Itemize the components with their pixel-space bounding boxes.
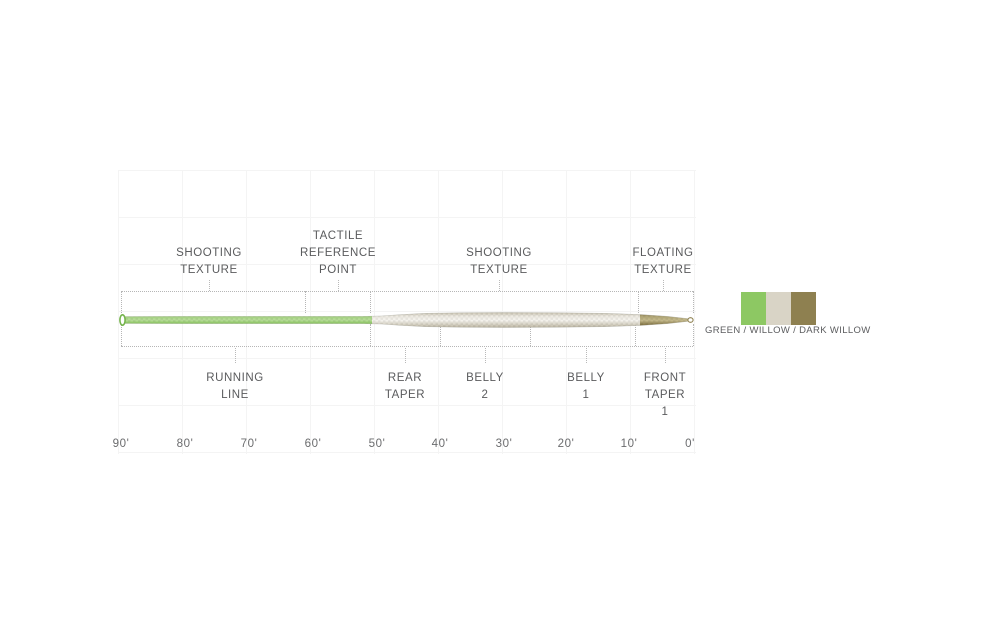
grid-line-horizontal bbox=[118, 217, 696, 218]
label-line: FLOATING bbox=[593, 245, 733, 262]
label-leader-line bbox=[665, 348, 666, 363]
fly-line-svg bbox=[118, 300, 698, 342]
axis-tick-label: 80' bbox=[177, 438, 194, 450]
swatch-willow bbox=[766, 292, 791, 325]
axis-tick-label: 0' bbox=[685, 438, 695, 450]
label-running-line: RUNNINGLINE bbox=[165, 370, 305, 404]
axis-tick-label: 20' bbox=[558, 438, 575, 450]
label-leader-line bbox=[235, 348, 236, 363]
label-line: FRONT bbox=[595, 370, 735, 387]
label-floating-texture: FLOATINGTEXTURE bbox=[593, 245, 733, 279]
axis-tick-label: 70' bbox=[241, 438, 258, 450]
label-leader-line bbox=[338, 280, 339, 291]
label-leader-line bbox=[499, 280, 500, 291]
label-leader-line bbox=[209, 280, 210, 291]
bracket-rail bbox=[121, 346, 693, 347]
axis-tick-label: 40' bbox=[432, 438, 449, 450]
bracket-rail bbox=[121, 291, 693, 292]
label-leader-line bbox=[485, 348, 486, 363]
axis-tick-label: 50' bbox=[369, 438, 386, 450]
label-leader-line bbox=[586, 348, 587, 363]
axis-tick-label: 10' bbox=[621, 438, 638, 450]
label-shooting-texture-belly: SHOOTINGTEXTURE bbox=[429, 245, 569, 279]
label-line: SHOOTING bbox=[429, 245, 569, 262]
label-front-taper: FRONTTAPER1 bbox=[595, 370, 735, 421]
label-line: TEXTURE bbox=[429, 262, 569, 279]
label-line: POINT bbox=[268, 262, 408, 279]
color-swatch bbox=[741, 292, 816, 325]
label-line: SHOOTING bbox=[139, 245, 279, 262]
label-line: REFERENCE bbox=[268, 245, 408, 262]
axis-tick-label: 30' bbox=[496, 438, 513, 450]
label-shooting-texture-rear: SHOOTINGTEXTURE bbox=[139, 245, 279, 279]
welded-loop-butt bbox=[120, 315, 125, 325]
axis-tick-label: 90' bbox=[113, 438, 130, 450]
welded-loop-tip bbox=[688, 318, 693, 323]
grid-line-horizontal bbox=[118, 358, 696, 359]
color-legend-label: GREEN / WILLOW / DARK WILLOW bbox=[705, 325, 871, 336]
label-line: TAPER bbox=[595, 387, 735, 404]
fly-line-illustration bbox=[118, 300, 698, 342]
label-line: RUNNING bbox=[165, 370, 305, 387]
diagram-canvas: SHOOTINGTEXTURETACTILEREFERENCEPOINTSHOO… bbox=[0, 0, 1000, 640]
label-line: TEXTURE bbox=[593, 262, 733, 279]
distance-axis: 90'80'70'60'50'40'30'20'10'0' bbox=[0, 438, 1000, 458]
axis-tick-label: 60' bbox=[305, 438, 322, 450]
label-leader-line bbox=[405, 348, 406, 363]
swatch-dark-willow bbox=[791, 292, 816, 325]
label-leader-line bbox=[663, 280, 664, 291]
swatch-green bbox=[741, 292, 766, 325]
label-line: TACTILE bbox=[268, 228, 408, 245]
label-tactile-reference-point: TACTILEREFERENCEPOINT bbox=[268, 228, 408, 279]
line-weave-texture bbox=[121, 313, 693, 328]
label-line: LINE bbox=[165, 387, 305, 404]
label-line: 1 bbox=[595, 404, 735, 421]
label-line: TEXTURE bbox=[139, 262, 279, 279]
grid-line-horizontal bbox=[118, 170, 696, 171]
